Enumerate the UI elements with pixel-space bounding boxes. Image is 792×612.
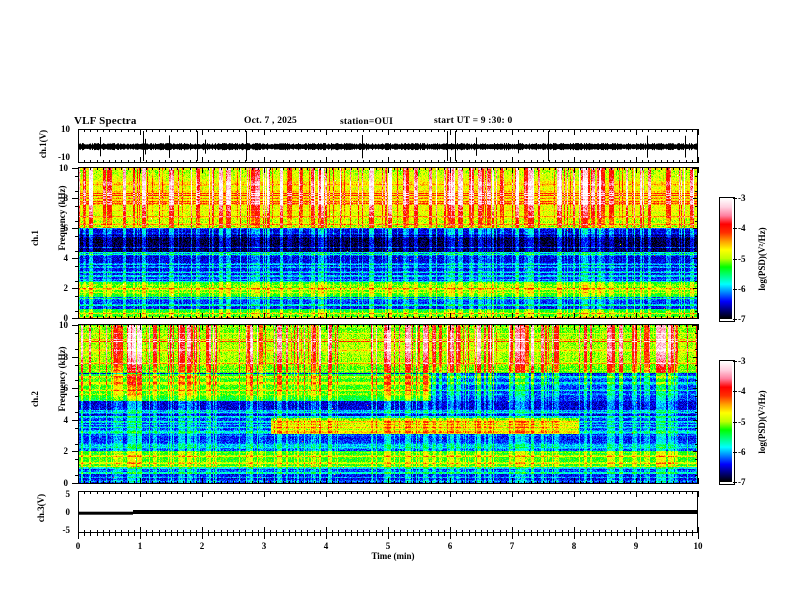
panel-edge-tick — [599, 324, 600, 327]
panel-edge-tick — [630, 160, 631, 163]
x-minor-tick — [580, 533, 581, 536]
panel-edge-tick — [276, 530, 277, 533]
panel-edge-tick — [506, 481, 507, 484]
panel-edge-tick — [227, 316, 228, 319]
panel-edge-tick — [332, 530, 333, 533]
panel-edge-tick — [388, 313, 389, 319]
panel-edge-tick — [469, 160, 470, 163]
panel-edge-tick — [543, 316, 544, 319]
panel-edge-tick — [351, 481, 352, 484]
panel-edge-tick — [642, 481, 643, 484]
colorbar-tick-mark — [733, 361, 737, 362]
panel-edge-tick — [134, 167, 135, 170]
panel-edge-tick — [326, 491, 327, 497]
panel-edge-tick — [450, 167, 451, 173]
panel-edge-tick — [394, 491, 395, 494]
panel-edge-tick — [462, 481, 463, 484]
panel-edge-tick — [636, 313, 637, 319]
freq-tick-label: 6 — [44, 223, 68, 233]
x-tick-label: 3 — [250, 541, 278, 551]
panel-edge-tick — [245, 491, 246, 494]
panel-edge-tick — [264, 478, 265, 484]
ch3-waveform-canvas — [79, 492, 697, 532]
panel-edge-tick — [438, 530, 439, 533]
x-tick-label: 4 — [312, 541, 340, 551]
panel-edge-tick — [686, 530, 687, 533]
panel-edge-tick — [190, 316, 191, 319]
panel-edge-tick — [103, 129, 104, 132]
panel-edge-tick — [202, 491, 203, 497]
x-minor-tick — [177, 533, 178, 536]
colorbar-ch1-gradient — [720, 198, 732, 319]
panel-edge-tick — [146, 129, 147, 132]
freq-minor-tick — [75, 475, 78, 476]
panel-edge-tick — [555, 491, 556, 494]
panel-edge-tick — [493, 129, 494, 132]
x-minor-tick — [661, 533, 662, 536]
x-minor-tick — [394, 533, 395, 536]
panel-edge-tick — [345, 324, 346, 327]
panel-edge-tick — [574, 491, 575, 497]
panel-edge-tick — [692, 160, 693, 163]
x-tick-label: 8 — [560, 541, 588, 551]
panel-edge-tick — [500, 324, 501, 327]
ch3-wave-tick-neg5: -5 — [44, 525, 70, 535]
panel-edge-tick — [338, 167, 339, 170]
panel-edge-tick — [518, 324, 519, 327]
panel-edge-tick — [605, 167, 606, 170]
panel-edge-tick — [444, 167, 445, 170]
panel-edge-tick — [400, 316, 401, 319]
panel-edge-tick — [165, 530, 166, 533]
panel-edge-tick — [586, 530, 587, 533]
panel-edge-tick — [413, 481, 414, 484]
panel-edge-tick — [679, 167, 680, 170]
panel-edge-tick — [506, 324, 507, 327]
panel-edge-tick — [214, 160, 215, 163]
panel-edge-tick — [332, 160, 333, 163]
x-minor-tick — [400, 533, 401, 536]
x-minor-tick — [258, 533, 259, 536]
panel-edge-tick — [221, 481, 222, 484]
panel-edge-tick — [655, 167, 656, 170]
panel-edge-tick — [109, 316, 110, 319]
panel-edge-tick — [307, 491, 308, 494]
panel-edge-tick — [456, 530, 457, 533]
panel-edge-tick — [425, 530, 426, 533]
panel-edge-tick — [382, 530, 383, 533]
panel-edge-tick — [159, 316, 160, 319]
panel-edge-tick — [177, 167, 178, 170]
panel-edge-tick — [78, 324, 79, 330]
panel-edge-tick — [171, 491, 172, 494]
panel-edge-tick — [307, 316, 308, 319]
panel-edge-tick — [568, 167, 569, 170]
x-minor-tick — [686, 533, 687, 536]
panel-edge-tick — [140, 324, 141, 330]
panel-edge-tick — [394, 316, 395, 319]
panel-edge-tick — [593, 324, 594, 327]
x-major-tick — [326, 533, 327, 539]
panel-edge-tick — [425, 160, 426, 163]
panel-edge-tick — [611, 316, 612, 319]
panel-edge-tick — [394, 530, 395, 533]
panel-edge-tick — [128, 481, 129, 484]
panel-edge-tick — [407, 129, 408, 132]
panel-edge-tick — [301, 324, 302, 327]
panel-edge-tick — [438, 324, 439, 327]
panel-edge-tick — [524, 167, 525, 170]
panel-edge-tick — [146, 160, 147, 163]
panel-edge-tick — [183, 481, 184, 484]
panel-edge-tick — [90, 316, 91, 319]
panel-edge-tick — [413, 316, 414, 319]
panel-edge-tick — [369, 167, 370, 170]
panel-edge-tick — [487, 167, 488, 170]
panel-edge-tick — [648, 316, 649, 319]
panel-edge-tick — [295, 167, 296, 170]
panel-edge-tick — [605, 324, 606, 327]
panel-edge-tick — [425, 481, 426, 484]
panel-edge-tick — [301, 129, 302, 132]
x-minor-tick — [617, 533, 618, 536]
panel-edge-tick — [456, 491, 457, 494]
freq-minor-tick-inner — [695, 459, 698, 460]
freq-major-tick-inner — [693, 198, 698, 199]
panel-edge-tick — [475, 481, 476, 484]
panel-edge-tick — [301, 160, 302, 163]
freq-tick-label: 4 — [44, 415, 68, 425]
panel-edge-tick — [177, 324, 178, 327]
panel-edge-tick — [667, 324, 668, 327]
panel-edge-tick — [444, 316, 445, 319]
panel-edge-tick — [518, 481, 519, 484]
panel-edge-tick — [555, 324, 556, 327]
panel-edge-tick — [419, 481, 420, 484]
panel-edge-tick — [487, 481, 488, 484]
panel-edge-tick — [512, 313, 513, 319]
panel-edge-tick — [109, 324, 110, 327]
freq-minor-tick-inner — [695, 176, 698, 177]
panel-edge-tick — [506, 160, 507, 163]
panel-edge-tick — [202, 478, 203, 484]
panel-edge-tick — [419, 316, 420, 319]
panel-edge-tick — [487, 160, 488, 163]
panel-edge-tick — [667, 129, 668, 132]
colorbar-tick-label: -3 — [738, 193, 760, 203]
panel-edge-tick — [444, 491, 445, 494]
panel-edge-tick — [462, 316, 463, 319]
panel-edge-tick — [332, 481, 333, 484]
panel-edge-tick — [493, 167, 494, 170]
x-minor-tick — [506, 533, 507, 536]
panel-edge-tick — [531, 167, 532, 170]
panel-edge-tick — [134, 316, 135, 319]
panel-edge-tick — [270, 316, 271, 319]
panel-edge-tick — [648, 324, 649, 327]
panel-edge-tick — [500, 530, 501, 533]
colorbar-tick-mark — [733, 391, 737, 392]
panel-edge-tick — [537, 129, 538, 132]
colorbar-tick-label: -3 — [738, 356, 760, 366]
panel-edge-tick — [537, 160, 538, 163]
panel-edge-tick — [549, 530, 550, 533]
panel-edge-tick — [568, 160, 569, 163]
x-minor-tick — [357, 533, 358, 536]
x-major-tick — [140, 533, 141, 539]
panel-edge-tick — [134, 324, 135, 327]
panel-edge-tick — [611, 167, 612, 170]
colorbar-ch2-label: log(PSD)(V²/Hz) — [757, 367, 767, 477]
panel-edge-tick — [208, 530, 209, 533]
x-minor-tick — [382, 533, 383, 536]
panel-edge-tick — [363, 530, 364, 533]
panel-edge-tick — [469, 316, 470, 319]
panel-edge-tick — [667, 316, 668, 319]
panel-edge-tick — [159, 160, 160, 163]
panel-edge-tick — [97, 324, 98, 327]
panel-edge-tick — [692, 530, 693, 533]
panel-edge-tick — [506, 129, 507, 132]
panel-edge-tick — [227, 324, 228, 327]
panel-edge-tick — [214, 129, 215, 132]
panel-edge-tick — [152, 167, 153, 170]
panel-edge-tick — [661, 481, 662, 484]
freq-minor-tick-inner — [695, 251, 698, 252]
panel-edge-tick — [233, 167, 234, 170]
panel-edge-tick — [233, 129, 234, 132]
colorbar-ch1-label: log(PSD)(V²/Hz) — [757, 204, 767, 314]
panel-edge-tick — [320, 167, 321, 170]
panel-edge-tick — [165, 160, 166, 163]
panel-edge-tick — [258, 491, 259, 494]
panel-edge-tick — [289, 167, 290, 170]
panel-edge-tick — [407, 481, 408, 484]
x-minor-tick — [171, 533, 172, 536]
panel-edge-tick — [171, 316, 172, 319]
panel-edge-tick — [481, 324, 482, 327]
x-minor-tick — [90, 533, 91, 536]
panel-edge-tick — [258, 481, 259, 484]
panel-edge-tick — [376, 530, 377, 533]
panel-edge-tick — [345, 481, 346, 484]
x-minor-tick — [345, 533, 346, 536]
panel-edge-tick — [407, 491, 408, 494]
panel-edge-tick — [202, 157, 203, 163]
freq-major-tick — [72, 388, 78, 389]
panel-edge-tick — [593, 316, 594, 319]
panel-edge-tick — [326, 527, 327, 533]
freq-major-tick — [72, 288, 78, 289]
x-minor-tick — [593, 533, 594, 536]
panel-edge-tick — [642, 491, 643, 494]
panel-edge-tick — [289, 491, 290, 494]
x-tick-label: 1 — [126, 541, 154, 551]
freq-minor-tick — [75, 428, 78, 429]
x-minor-tick — [599, 533, 600, 536]
x-tick-label: 6 — [436, 541, 464, 551]
panel-edge-tick — [493, 160, 494, 163]
ch2-spectrogram-canvas — [79, 325, 697, 483]
panel-edge-tick — [673, 324, 674, 327]
panel-edge-tick — [115, 316, 116, 319]
panel-edge-tick — [394, 324, 395, 327]
ch1-wave-tick-neg10: -10 — [44, 152, 70, 162]
panel-edge-tick — [574, 478, 575, 484]
x-minor-tick — [338, 533, 339, 536]
panel-edge-tick — [376, 491, 377, 494]
panel-edge-tick — [140, 478, 141, 484]
panel-edge-tick — [580, 530, 581, 533]
panel-edge-tick — [301, 316, 302, 319]
panel-edge-tick — [301, 530, 302, 533]
panel-edge-tick — [425, 324, 426, 327]
panel-edge-tick — [475, 491, 476, 494]
panel-edge-tick — [425, 316, 426, 319]
panel-edge-tick — [326, 324, 327, 330]
freq-minor-tick-inner — [695, 236, 698, 237]
panel-edge-tick — [252, 129, 253, 132]
panel-edge-tick — [407, 316, 408, 319]
panel-edge-tick — [624, 530, 625, 533]
panel-edge-tick — [351, 316, 352, 319]
panel-edge-tick — [648, 530, 649, 533]
x-minor-tick — [221, 533, 222, 536]
panel-edge-tick — [121, 160, 122, 163]
panel-edge-tick — [524, 129, 525, 132]
panel-edge-tick — [171, 481, 172, 484]
panel-edge-tick — [314, 491, 315, 494]
panel-edge-tick — [307, 324, 308, 327]
panel-edge-tick — [264, 324, 265, 330]
panel-edge-tick — [456, 324, 457, 327]
panel-edge-tick — [208, 167, 209, 170]
freq-major-tick-inner — [693, 228, 698, 229]
panel-edge-tick — [245, 324, 246, 327]
panel-edge-tick — [171, 167, 172, 170]
x-minor-tick — [493, 533, 494, 536]
panel-edge-tick — [431, 491, 432, 494]
panel-edge-tick — [264, 491, 265, 497]
panel-edge-tick — [636, 324, 637, 330]
ch1-spectrogram-panel — [78, 167, 698, 319]
panel-edge-tick — [506, 316, 507, 319]
panel-edge-tick — [586, 129, 587, 132]
panel-edge-tick — [90, 160, 91, 163]
panel-edge-tick — [363, 491, 364, 494]
x-minor-tick — [531, 533, 532, 536]
panel-edge-tick — [276, 316, 277, 319]
panel-edge-tick — [679, 129, 680, 132]
x-tick-label: 2 — [188, 541, 216, 551]
panel-edge-tick — [208, 316, 209, 319]
x-minor-tick — [431, 533, 432, 536]
panel-edge-tick — [419, 167, 420, 170]
panel-edge-tick — [252, 316, 253, 319]
panel-edge-tick — [593, 491, 594, 494]
panel-edge-tick — [562, 481, 563, 484]
panel-edge-tick — [475, 324, 476, 327]
panel-edge-tick — [462, 530, 463, 533]
panel-edge-tick — [227, 160, 228, 163]
panel-edge-tick — [183, 316, 184, 319]
panel-edge-tick — [543, 530, 544, 533]
panel-edge-tick — [270, 324, 271, 327]
panel-edge-tick — [159, 129, 160, 132]
panel-edge-tick — [568, 491, 569, 494]
panel-edge-tick — [320, 160, 321, 163]
panel-edge-tick — [314, 530, 315, 533]
panel-edge-tick — [295, 129, 296, 132]
panel-edge-tick — [692, 167, 693, 170]
x-minor-tick — [233, 533, 234, 536]
panel-edge-tick — [679, 324, 680, 327]
panel-edge-tick — [524, 491, 525, 494]
panel-edge-tick — [264, 157, 265, 163]
panel-edge-tick — [177, 129, 178, 132]
panel-edge-tick — [679, 160, 680, 163]
panel-edge-tick — [258, 316, 259, 319]
panel-edge-tick — [481, 481, 482, 484]
x-minor-tick — [363, 533, 364, 536]
panel-edge-tick — [574, 157, 575, 163]
panel-edge-tick — [121, 530, 122, 533]
freq-minor-tick — [75, 206, 78, 207]
panel-edge-tick — [462, 324, 463, 327]
panel-edge-tick — [692, 129, 693, 132]
panel-edge-tick — [97, 530, 98, 533]
panel-edge-tick — [84, 324, 85, 327]
panel-edge-tick — [165, 324, 166, 327]
panel-edge-tick — [469, 129, 470, 132]
panel-edge-tick — [146, 167, 147, 170]
x-minor-tick — [196, 533, 197, 536]
panel-edge-tick — [103, 491, 104, 494]
x-minor-tick — [376, 533, 377, 536]
panel-edge-tick — [227, 491, 228, 494]
panel-edge-tick — [214, 491, 215, 494]
panel-edge-tick — [562, 491, 563, 494]
panel-edge-tick — [555, 316, 556, 319]
panel-edge-tick — [90, 324, 91, 327]
panel-edge-tick — [388, 167, 389, 173]
freq-minor-tick-inner — [695, 365, 698, 366]
freq-minor-tick — [75, 221, 78, 222]
panel-edge-tick — [190, 530, 191, 533]
panel-edge-tick — [605, 129, 606, 132]
panel-edge-tick — [320, 129, 321, 132]
x-major-tick — [636, 533, 637, 539]
panel-edge-tick — [159, 491, 160, 494]
panel-edge-tick — [524, 324, 525, 327]
panel-edge-tick — [531, 129, 532, 132]
panel-edge-tick — [97, 491, 98, 494]
panel-edge-tick — [307, 129, 308, 132]
panel-edge-tick — [549, 324, 550, 327]
x-minor-tick — [276, 533, 277, 536]
panel-edge-tick — [686, 481, 687, 484]
panel-edge-tick — [692, 491, 693, 494]
x-major-tick — [512, 533, 513, 539]
x-tick-label: 9 — [622, 541, 650, 551]
x-minor-tick — [648, 533, 649, 536]
panel-edge-tick — [431, 316, 432, 319]
panel-edge-tick — [326, 313, 327, 319]
freq-minor-tick — [75, 236, 78, 237]
panel-edge-tick — [475, 160, 476, 163]
panel-edge-tick — [667, 160, 668, 163]
panel-edge-tick — [630, 324, 631, 327]
